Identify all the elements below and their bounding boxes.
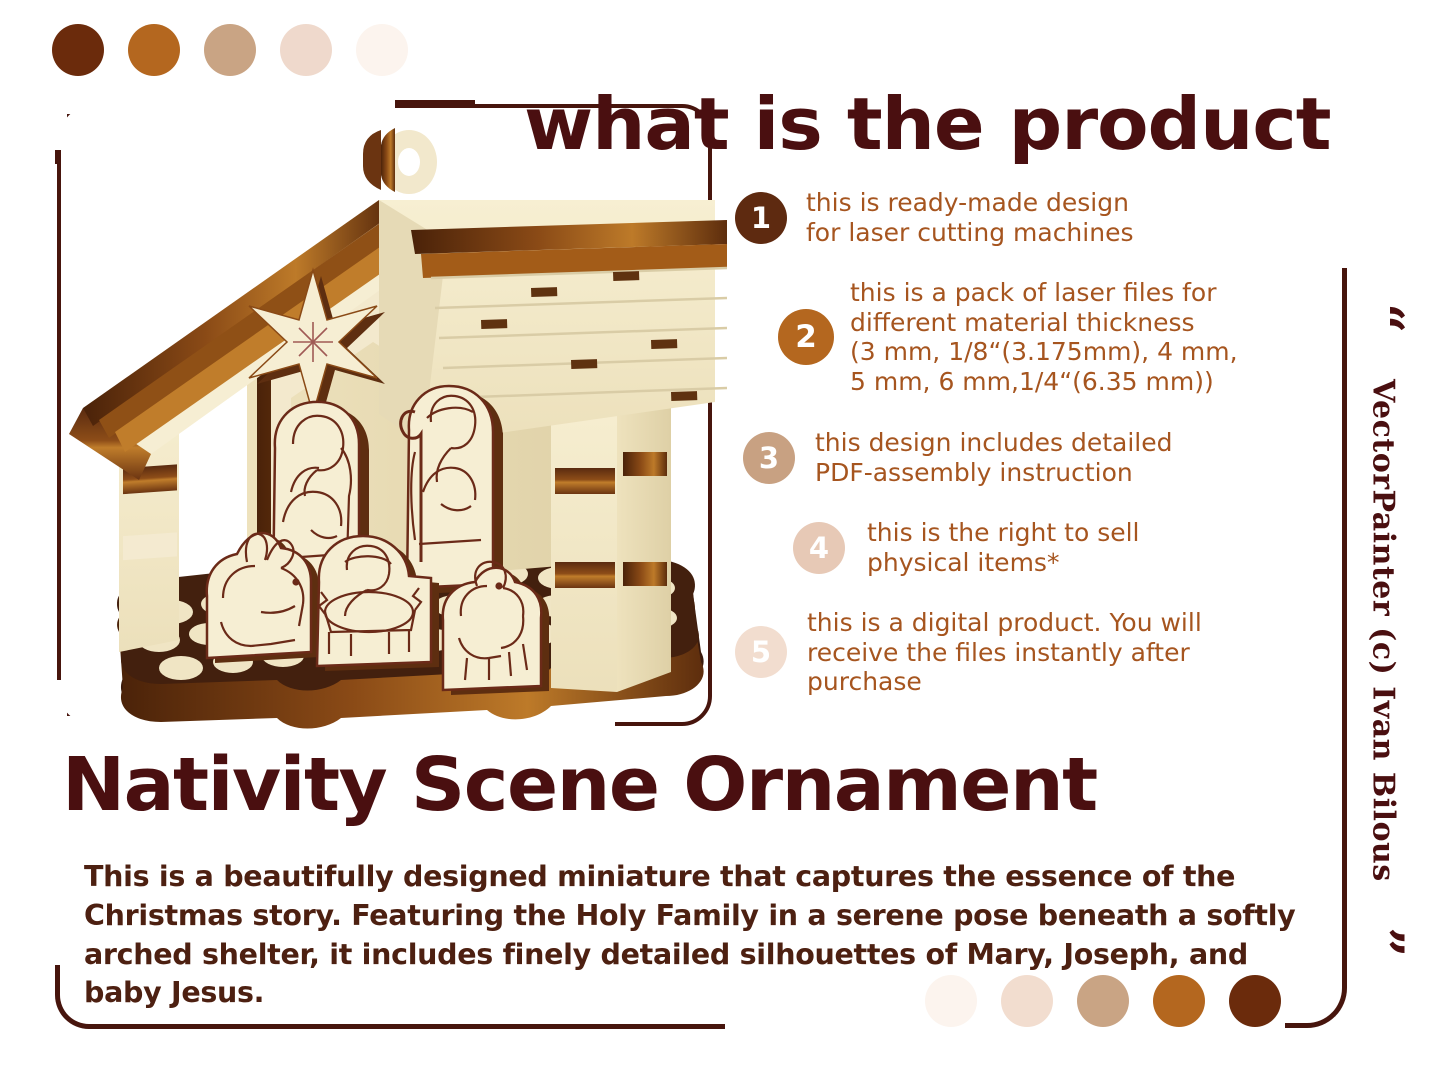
feature-number-badge-4: 4 — [793, 522, 845, 574]
palette-bottom-swatch-1 — [925, 975, 977, 1027]
product-image-card — [57, 104, 712, 726]
feature-text-4: this is the right to sell physical items… — [867, 518, 1140, 577]
feature-number-badge-2: 2 — [778, 309, 834, 365]
hanging-loop — [363, 128, 437, 194]
feature-text-3: this design includes detailed PDF-assemb… — [815, 428, 1173, 487]
palette-top-swatch-4 — [280, 24, 332, 76]
palette-bottom-swatch-4 — [1153, 975, 1205, 1027]
feature-text-2: this is a pack of laser files for differ… — [850, 278, 1238, 396]
product-image — [11, 92, 771, 752]
feature-item-4: 4 this is the right to sell physical ite… — [793, 518, 1140, 577]
page-title: what is the product — [524, 88, 1330, 160]
palette-bottom — [925, 975, 1281, 1027]
palette-bottom-swatch-2 — [1001, 975, 1053, 1027]
feature-item-3: 3 this design includes detailed PDF-asse… — [743, 428, 1173, 487]
frame-gap-left-top — [53, 102, 67, 150]
poster-canvas: what is the product 1 this is ready-made… — [0, 0, 1445, 1084]
palette-top-swatch-5 — [356, 24, 408, 76]
quote-open-icon: “ — [1365, 303, 1401, 333]
nativity-ornament-illustration — [11, 92, 771, 752]
palette-bottom-swatch-5 — [1229, 975, 1281, 1027]
palette-bottom-swatch-3 — [1077, 975, 1129, 1027]
frame-gap-left-bottom — [53, 680, 67, 728]
feature-number-badge-1: 1 — [735, 192, 787, 244]
palette-top-swatch-3 — [204, 24, 256, 76]
feature-item-2: 2 this is a pack of laser files for diff… — [778, 278, 1238, 396]
quote-close-icon: ” — [1365, 927, 1401, 957]
palette-top — [52, 24, 408, 76]
feature-number-badge-3: 3 — [743, 432, 795, 484]
palette-top-swatch-1 — [52, 24, 104, 76]
feature-text-5: this is a digital product. You will rece… — [807, 608, 1202, 697]
feature-item-5: 5 this is a digital product. You will re… — [735, 608, 1202, 697]
feature-text-1: this is ready-made design for laser cutt… — [806, 188, 1133, 247]
feature-item-1: 1 this is ready-made design for laser cu… — [735, 188, 1133, 247]
product-name: Nativity Scene Ornament — [62, 748, 1097, 822]
palette-top-swatch-2 — [128, 24, 180, 76]
feature-number-badge-5: 5 — [735, 626, 787, 678]
watermark-text: VectorPainter (c) Ivan Bilous — [1366, 379, 1401, 882]
watermark-credit: “ VectorPainter (c) Ivan Bilous ” — [1352, 300, 1414, 960]
